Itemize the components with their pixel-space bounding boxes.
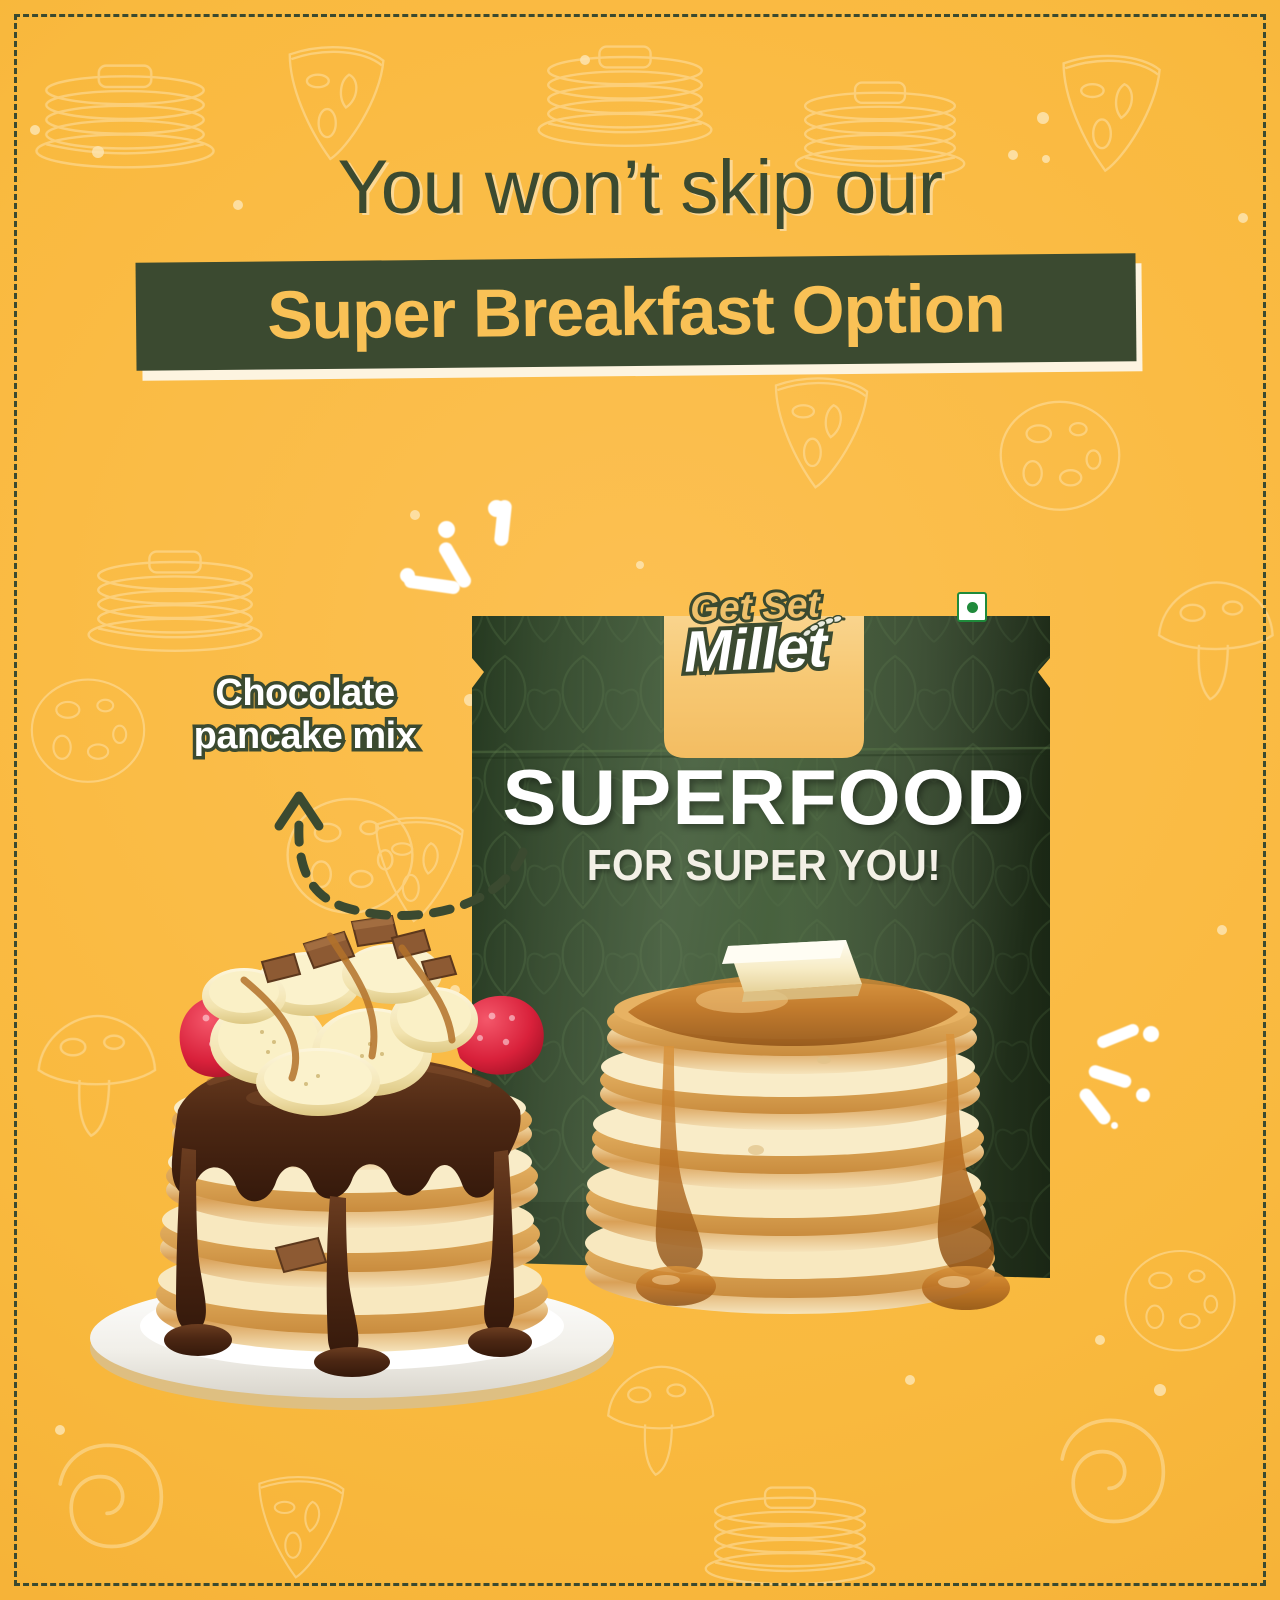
- headline-group: You won’t skip our: [0, 150, 1280, 226]
- poster-canvas: You won’t skip our Super Breakfast Optio…: [0, 0, 1280, 1600]
- headline-line-1: You won’t skip our: [0, 150, 1280, 226]
- banner-label: Super Breakfast Option: [267, 269, 1005, 354]
- curved-dashed-arrow-icon: [265, 780, 535, 930]
- banner-box: Super Breakfast Option: [136, 253, 1137, 371]
- veg-mark-icon: [957, 592, 987, 622]
- wheat-stalk-icon: [792, 615, 848, 643]
- callout-line-2: pancake mix: [150, 715, 460, 758]
- callout-label: Chocolate pancake mix: [150, 672, 460, 757]
- pouch-tagline-group: SUPERFOOD FOR SUPER YOU!: [466, 760, 1062, 888]
- classic-pancake-photo: [585, 940, 1010, 1314]
- pouch-tagline-sub: FOR SUPER YOU!: [490, 844, 1038, 888]
- product-logo: Get Set Millet: [640, 588, 870, 698]
- chocolate-pancake-photo: [90, 916, 614, 1410]
- callout-line-1: Chocolate: [150, 672, 460, 715]
- headline-banner: Super Breakfast Option: [136, 258, 1136, 366]
- pouch-tagline-main: SUPERFOOD: [454, 760, 1074, 834]
- veg-mark-dot: [967, 602, 978, 613]
